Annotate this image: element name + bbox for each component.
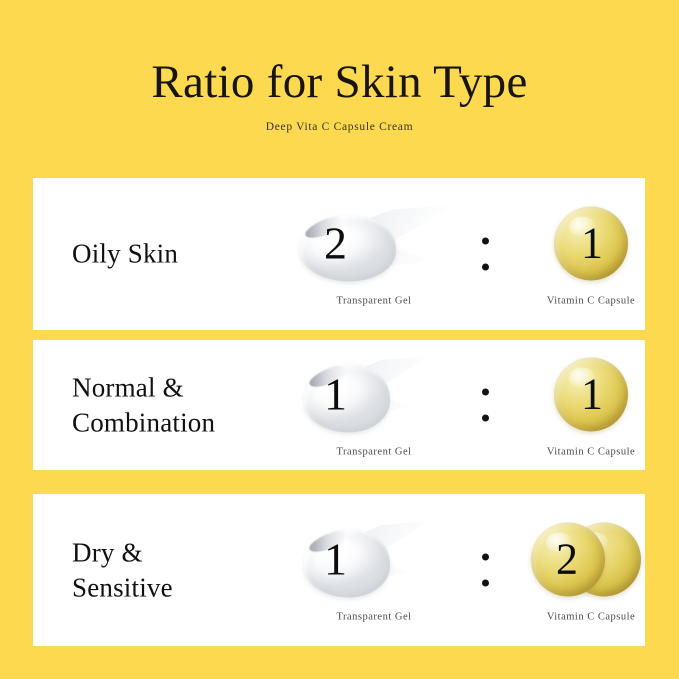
- vitamin-c-capsule-icon: 2: [521, 518, 661, 602]
- header: Ratio for Skin Type Deep Vita C Capsule …: [0, 58, 679, 133]
- gel-amount-value: 1: [294, 353, 454, 437]
- colon-dot-lower: [482, 264, 489, 271]
- skin-type-label: Oily Skin: [72, 237, 178, 272]
- page-subtitle: Deep Vita C Capsule Cream: [0, 121, 679, 133]
- gel-caption: Transparent Gel: [285, 296, 463, 307]
- page-title: Ratio for Skin Type: [0, 58, 679, 108]
- gel-column: 1 Transparent Gel: [285, 353, 463, 458]
- ratio-separator: [473, 554, 497, 587]
- gel-column: 2 Transparent Gel: [285, 202, 463, 307]
- ratio-card-normal-combination: Normal & Combination 1 Transparent Gel: [33, 340, 645, 470]
- gel-column: 1 Transparent Gel: [285, 518, 463, 623]
- gel-amount-value: 1: [294, 518, 454, 602]
- ratio-card-dry-sensitive: Dry & Sensitive 1 Transparent Gel: [33, 494, 645, 646]
- capsule-column: 1 Vitamin C Capsule: [503, 202, 679, 307]
- skin-type-label: Normal & Combination: [72, 370, 215, 439]
- ratio-card-oily-skin: Oily Skin 2 Transparent Gel 1: [33, 178, 645, 330]
- colon-dot-upper: [482, 238, 489, 245]
- capsule-caption: Vitamin C Capsule: [503, 296, 679, 307]
- capsule-column: 2 Vitamin C Capsule: [503, 518, 679, 623]
- skin-type-label: Dry & Sensitive: [72, 535, 173, 604]
- ratio-separator: [473, 238, 497, 271]
- gel-amount-value: 2: [294, 202, 454, 286]
- colon-dot-lower: [482, 580, 489, 587]
- transparent-gel-icon: 1: [294, 353, 454, 437]
- transparent-gel-icon: 1: [294, 518, 454, 602]
- gel-caption: Transparent Gel: [285, 447, 463, 458]
- infographic-page: Ratio for Skin Type Deep Vita C Capsule …: [0, 0, 679, 679]
- capsule-column: 1 Vitamin C Capsule: [503, 353, 679, 458]
- vitamin-c-capsule-icon: 1: [521, 353, 661, 437]
- colon-dot-upper: [482, 389, 489, 396]
- colon-dot-lower: [482, 415, 489, 422]
- transparent-gel-icon: 2: [294, 202, 454, 286]
- capsule-caption: Vitamin C Capsule: [503, 447, 679, 458]
- capsule-amount-value: 1: [521, 202, 661, 286]
- ratio-separator: [473, 389, 497, 422]
- capsule-caption: Vitamin C Capsule: [503, 612, 679, 623]
- vitamin-c-capsule-icon: 1: [521, 202, 661, 286]
- capsule-amount-value: 2: [521, 518, 661, 602]
- capsule-amount-value: 1: [521, 353, 661, 437]
- colon-dot-upper: [482, 554, 489, 561]
- gel-caption: Transparent Gel: [285, 612, 463, 623]
